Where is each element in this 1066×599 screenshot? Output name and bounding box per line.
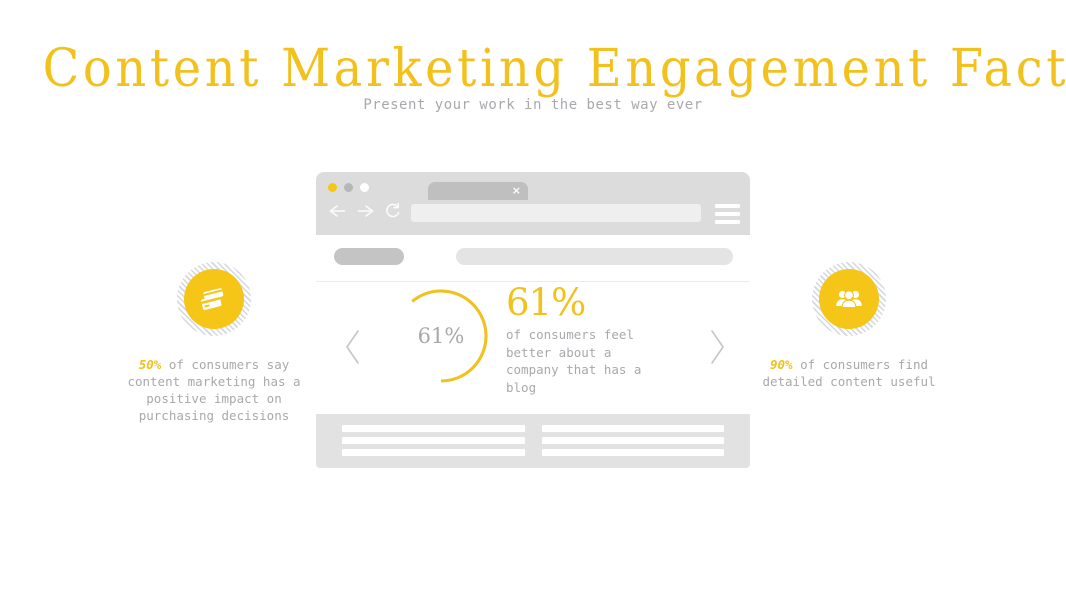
browser-mockup: × [316,172,750,468]
slider-next-button[interactable] [706,327,728,371]
fact-percent-right: 90% [770,357,793,372]
badge-left [177,262,251,336]
fact-card-right: 90% of consumers find detailed content u… [749,262,949,390]
site-header-bar [316,235,750,282]
stat-percent: 61% [506,282,666,324]
people-group-icon [819,269,879,329]
forward-arrow-icon[interactable] [356,203,375,219]
page-header: Content Marketing Engagement Facts Prese… [0,0,1066,130]
footer-column [542,425,725,457]
window-minimize-dot[interactable] [344,183,353,192]
browser-tab[interactable]: × [428,182,528,200]
credit-cards-icon [184,269,244,329]
fact-text-right: 90% of consumers find detailed content u… [749,356,949,390]
fact-percent-left: 50% [139,357,162,372]
browser-nav-buttons [328,202,401,219]
window-maximize-dot[interactable] [360,183,369,192]
footer-placeholder-bar [542,437,725,444]
stat-description: of consumers feel better about a company… [506,326,666,396]
browser-chrome: × [316,172,750,235]
window-controls [328,183,369,192]
slider-stat: 61% of consumers feel better about a com… [506,282,666,396]
footer-placeholder-bar [342,449,525,456]
donut-center-label: 61% [391,286,491,386]
hamburger-bar [715,220,740,224]
footer-placeholder-bar [342,425,525,432]
badge-right [812,262,886,336]
fact-text-left: 50% of consumers say content marketing h… [114,356,314,424]
footer-column [342,425,525,457]
url-input[interactable] [411,204,701,222]
slider-prev-button[interactable] [342,327,364,371]
slider-content: 61% 61% of consumers feel better about a… [316,282,750,416]
hamburger-menu-icon[interactable] [715,204,740,224]
footer-placeholder-bar [342,437,525,444]
site-footer-panel [316,414,750,468]
footer-placeholder-bar [542,425,725,432]
reload-icon[interactable] [384,202,401,219]
site-nav-placeholder[interactable] [456,248,733,265]
page-subtitle: Present your work in the best way ever [0,97,1066,113]
footer-placeholder-bar [542,449,725,456]
window-close-dot[interactable] [328,183,337,192]
hamburger-bar [715,204,740,208]
site-logo-placeholder[interactable] [334,248,404,265]
back-arrow-icon[interactable] [328,203,347,219]
fact-card-left: 50% of consumers say content marketing h… [114,262,314,424]
tab-close-icon[interactable]: × [512,184,521,198]
donut-chart: 61% [391,286,491,386]
page-title: Content Marketing Engagement Facts [43,38,1024,100]
hamburger-bar [715,212,740,216]
